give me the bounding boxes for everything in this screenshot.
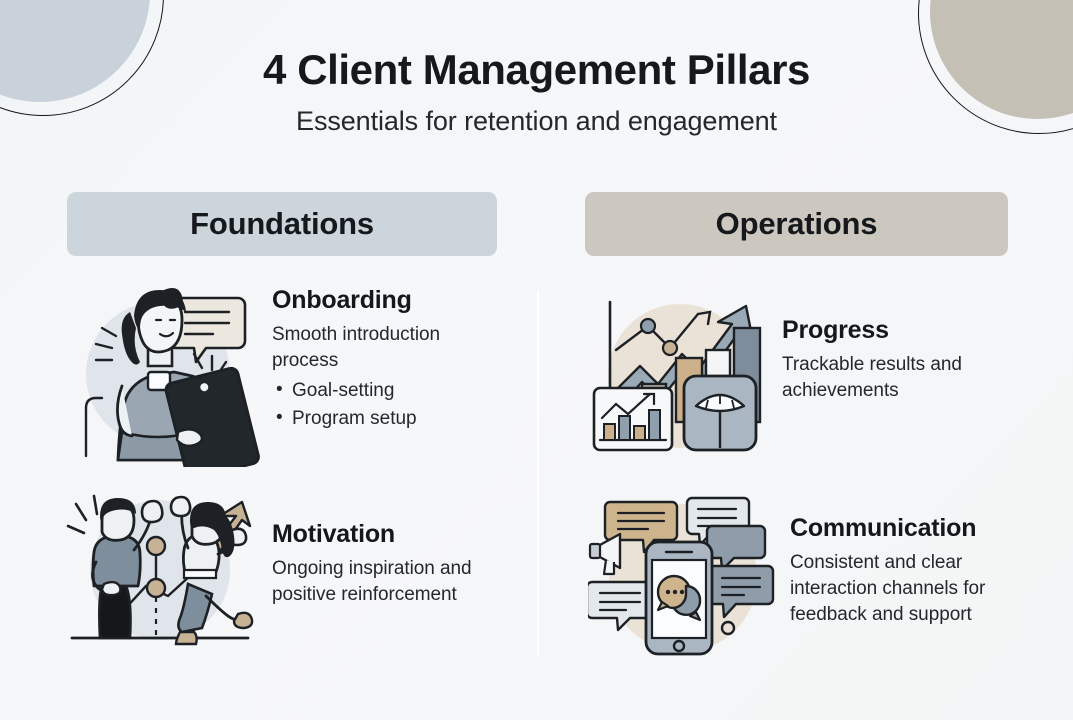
phone-chat-bubbles-icon: [588, 494, 778, 664]
column-header-operations-label: Operations: [716, 206, 878, 242]
page-subtitle: Essentials for retention and engagement: [0, 106, 1073, 137]
pillar-progress-title: Progress: [782, 316, 1027, 345]
pillar-motivation: Motivation Ongoing inspiration and posit…: [60, 492, 504, 657]
column-header-operations: Operations: [585, 192, 1008, 256]
pillar-communication: Communication Consistent and clear inter…: [588, 494, 1038, 664]
pillar-onboarding: Onboarding Smooth introduction process G…: [60, 282, 504, 467]
pillar-onboarding-description: Smooth introduction process: [272, 322, 504, 374]
pillar-onboarding-bullets: Goal-setting Program setup: [272, 377, 504, 432]
pillar-communication-description: Consistent and clear interaction channel…: [790, 550, 1038, 629]
column-header-foundations: Foundations: [67, 192, 497, 256]
header: 4 Client Management Pillars Essentials f…: [0, 48, 1073, 137]
pillar-progress-description: Trackable results and achievements: [782, 352, 1027, 404]
pillar-communication-text: Communication Consistent and clear inter…: [790, 494, 1038, 628]
pillar-motivation-text: Motivation Ongoing inspiration and posit…: [272, 492, 504, 608]
list-item: Goal-setting: [272, 377, 504, 405]
page-title: 4 Client Management Pillars: [0, 48, 1073, 92]
column-divider: [537, 290, 539, 655]
pillar-motivation-title: Motivation: [272, 520, 504, 549]
pillar-onboarding-title: Onboarding: [272, 286, 504, 315]
pillar-progress-text: Progress Trackable results and achieveme…: [782, 288, 1027, 404]
infographic-canvas: 4 Client Management Pillars Essentials f…: [0, 0, 1073, 720]
pillar-motivation-description: Ongoing inspiration and positive reinfor…: [272, 556, 504, 608]
charts-and-scale-icon: [588, 288, 770, 468]
woman-with-tablet-icon: [60, 282, 260, 467]
column-header-foundations-label: Foundations: [190, 206, 374, 242]
pillar-onboarding-text: Onboarding Smooth introduction process G…: [272, 282, 504, 432]
pillar-communication-title: Communication: [790, 514, 1038, 543]
celebrating-people-icon: [60, 492, 260, 657]
list-item: Program setup: [272, 405, 504, 433]
pillar-progress: Progress Trackable results and achieveme…: [588, 288, 1027, 468]
